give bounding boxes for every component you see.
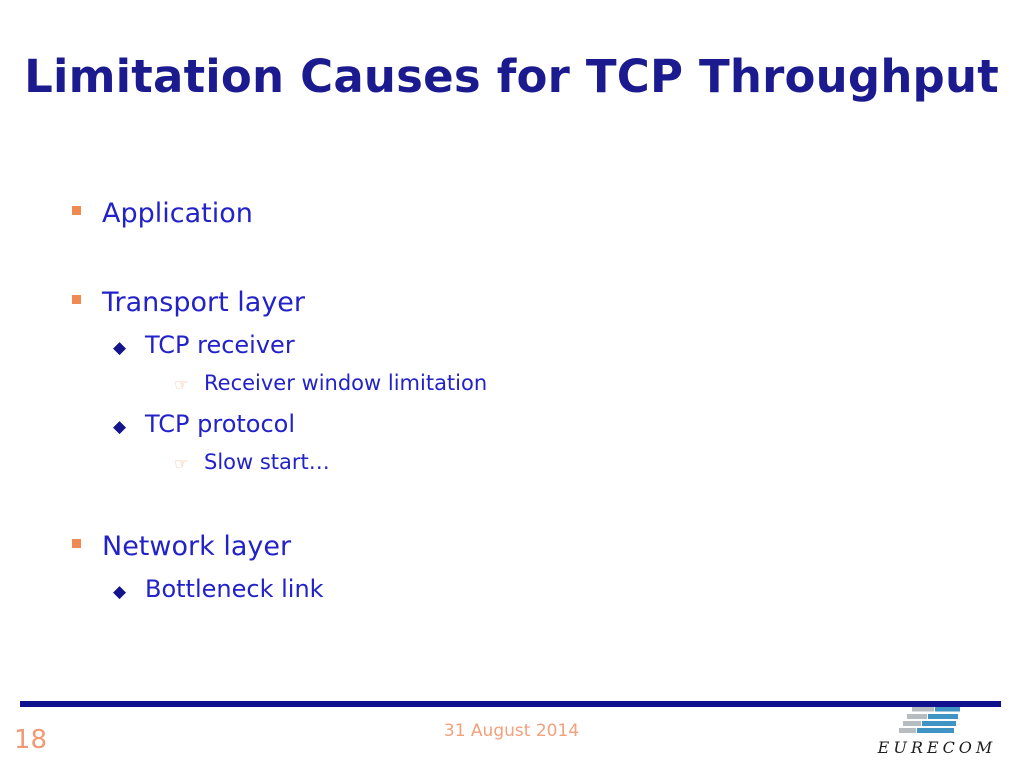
list-item-label: Transport layer xyxy=(102,289,305,316)
spacer xyxy=(62,244,962,289)
list-item-label: Receiver window limitation xyxy=(204,373,487,394)
list-item-label: Network layer xyxy=(102,533,291,560)
pointing-hand-bullet-icon: ☞ xyxy=(174,377,204,393)
list-item-label: TCP receiver xyxy=(145,333,295,357)
eurecom-logo-text: EURECOM xyxy=(862,740,1012,756)
footer-divider xyxy=(20,701,1001,707)
spacer xyxy=(62,491,962,533)
list-item: ☞ Slow start… xyxy=(174,452,962,491)
list-item-label: TCP protocol xyxy=(145,412,295,436)
list-item-label: Slow start… xyxy=(204,452,330,473)
list-item: ◆ TCP protocol xyxy=(113,412,962,452)
list-item: ☞ Receiver window limitation xyxy=(174,373,962,412)
bullet-list: Application Transport layer ◆ TCP receiv… xyxy=(62,200,962,617)
list-item: Network layer xyxy=(62,533,962,577)
list-item: Transport layer xyxy=(62,289,962,333)
list-item: ◆ Bottleneck link xyxy=(113,577,962,617)
list-item: ◆ TCP receiver xyxy=(113,333,962,373)
list-item-label: Bottleneck link xyxy=(145,577,324,601)
diamond-bullet-icon: ◆ xyxy=(113,340,145,357)
diamond-bullet-icon: ◆ xyxy=(113,419,145,436)
diamond-bullet-icon: ◆ xyxy=(113,584,145,601)
list-item: Application xyxy=(62,200,962,244)
page-title: Limitation Causes for TCP Throughput xyxy=(0,52,1023,102)
list-item-label: Application xyxy=(102,200,253,227)
pointing-hand-bullet-icon: ☞ xyxy=(174,456,204,472)
eurecom-logo: EURECOM xyxy=(862,707,1012,763)
eurecom-logo-mark-icon xyxy=(898,707,964,739)
